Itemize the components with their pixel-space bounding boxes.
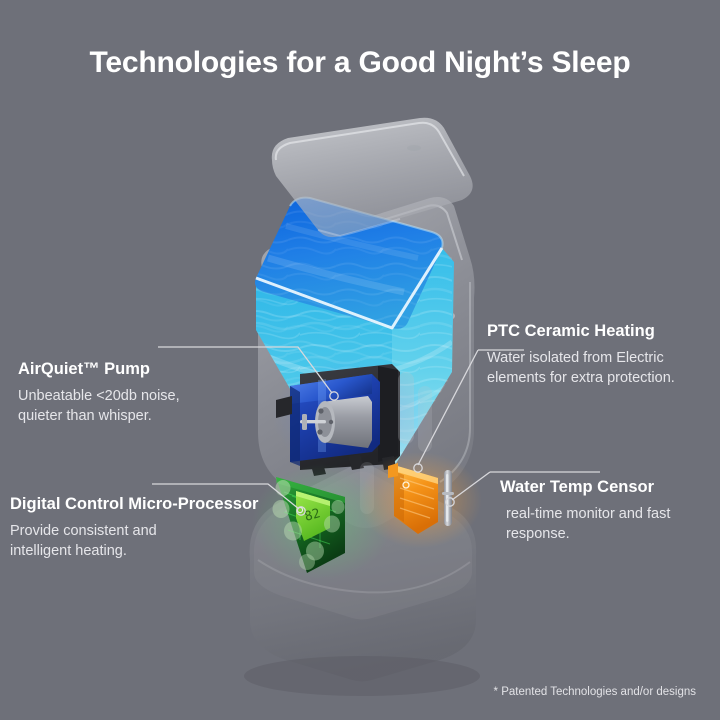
callout-heading-mcu: Digital Control Micro-Processor: [10, 495, 258, 514]
page-title: Technologies for a Good Night’s Sleep: [0, 46, 720, 80]
callout-body-mcu-line2: intelligent heating.: [10, 541, 258, 561]
callout-body-ptc: Water isolated from Electric elements fo…: [487, 348, 675, 388]
callout-body-pump-line2: quieter than whisper.: [18, 406, 180, 426]
callout-body-pump-line1: Unbeatable <20db noise,: [18, 386, 180, 406]
callout-body-temp-line1: real-time monitor and fast: [506, 504, 670, 524]
callout-ptc-ceramic-heating: PTC Ceramic Heating Water isolated from …: [487, 322, 675, 388]
footer-note: * Patented Technologies and/or designs: [494, 686, 696, 698]
callout-body-temp-line2: response.: [506, 524, 670, 544]
temp-sensor: [358, 452, 482, 548]
callout-heading-temp: Water Temp Censor: [500, 478, 670, 497]
callout-body-mcu-line1: Provide consistent and: [10, 521, 258, 541]
callout-air-quiet-pump: AirQuiet™ Pump Unbeatable <20db noise, q…: [18, 360, 180, 426]
diagram-canvas: 82: [0, 0, 720, 720]
callout-water-temp-censor: Water Temp Censor real-time monitor and …: [500, 478, 670, 544]
callout-heading-ptc: PTC Ceramic Heating: [487, 322, 675, 341]
callout-body-pump: Unbeatable <20db noise, quieter than whi…: [18, 386, 180, 426]
callout-heading-pump: AirQuiet™ Pump: [18, 360, 180, 379]
callout-body-ptc-line1: Water isolated from Electric: [487, 348, 675, 368]
callout-body-temp: real-time monitor and fast response.: [506, 504, 670, 544]
callout-digital-control-micro-processor: Digital Control Micro-Processor Provide …: [10, 495, 258, 561]
callout-body-ptc-line2: elements for extra protection.: [487, 368, 675, 388]
callout-body-mcu: Provide consistent and intelligent heati…: [10, 521, 258, 561]
